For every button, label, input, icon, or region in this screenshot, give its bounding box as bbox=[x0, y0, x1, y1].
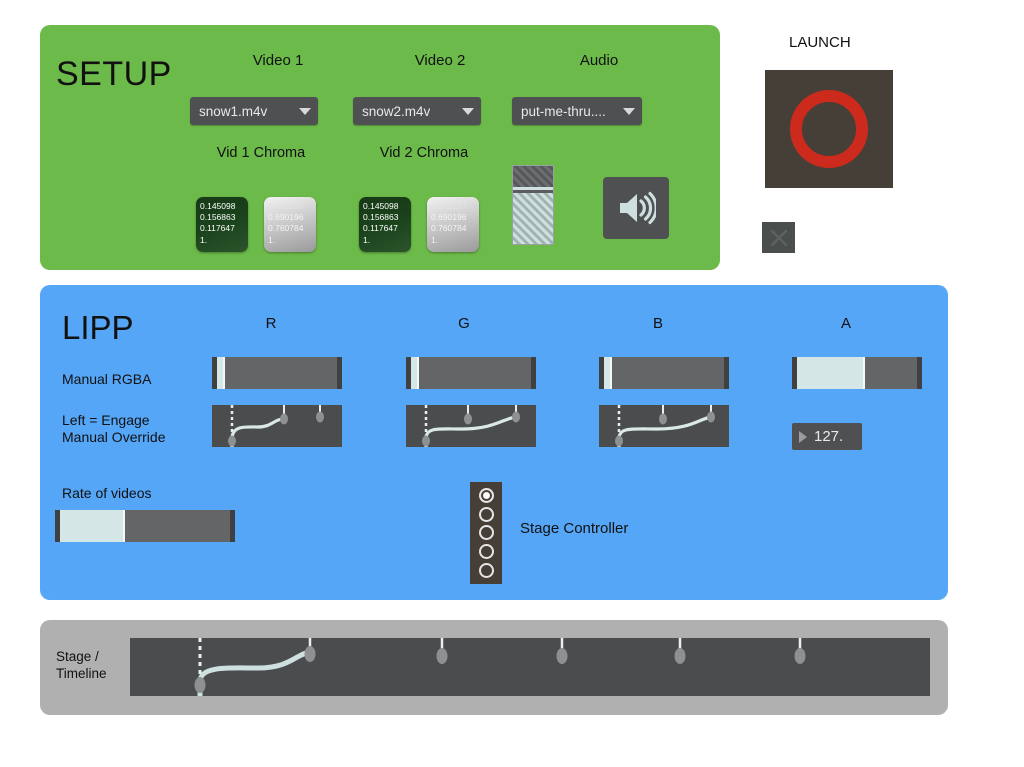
function-editor-b[interactable] bbox=[599, 405, 729, 447]
channel-header-a: A bbox=[811, 315, 881, 332]
timeline-panel: Stage / Timeline bbox=[40, 620, 948, 715]
channel-header-r: R bbox=[236, 315, 306, 332]
column-header-video2: Video 2 bbox=[365, 52, 515, 69]
swatch-value-b: 0.117647 bbox=[200, 223, 248, 234]
speaker-icon bbox=[616, 191, 656, 225]
swatch-value-b: 0.117647 bbox=[363, 223, 411, 234]
swatch-value-b: 0.760784 bbox=[268, 223, 316, 234]
vid1-chroma-tolerance-swatch[interactable]: 0.643137 0.690196 0.760784 1. bbox=[264, 197, 316, 252]
vid2-chroma-key-swatch[interactable]: 0.145098 0.156863 0.117647 1. bbox=[359, 197, 411, 252]
radio-option-2[interactable] bbox=[479, 507, 494, 522]
manual-override-label-line1: Left = Engage bbox=[62, 412, 166, 429]
alpha-number-box[interactable]: 127. bbox=[792, 423, 862, 450]
slider-fill bbox=[604, 357, 612, 389]
setup-panel-title: SETUP bbox=[56, 55, 172, 94]
slider-fill bbox=[797, 357, 865, 389]
video2-file-value: snow2.m4v bbox=[362, 104, 430, 119]
swatch-value-a: 1. bbox=[431, 235, 479, 246]
lipp-panel-title: LIPP bbox=[62, 309, 134, 347]
audio-file-dropdown[interactable]: put-me-thru.... bbox=[512, 97, 642, 125]
alpha-number-value: 127. bbox=[814, 428, 843, 445]
slider-fill bbox=[411, 357, 419, 389]
manual-slider-b[interactable] bbox=[599, 357, 729, 389]
vid1-chroma-key-swatch[interactable]: 0.145098 0.156863 0.117647 1. bbox=[196, 197, 248, 252]
slider-fill bbox=[60, 510, 125, 542]
swatch-value-b: 0.760784 bbox=[431, 223, 479, 234]
swatch-value-a: 1. bbox=[200, 235, 248, 246]
function-editor-r[interactable] bbox=[212, 405, 342, 447]
chevron-down-icon bbox=[299, 108, 311, 115]
swatch-value-r: 0.643137 bbox=[431, 201, 479, 212]
stage-timeline-label-line2: Timeline bbox=[56, 665, 107, 682]
chevron-down-icon bbox=[462, 108, 474, 115]
rate-of-videos-slider[interactable] bbox=[55, 510, 235, 542]
x-toggle-icon bbox=[769, 228, 789, 248]
video2-file-dropdown[interactable]: snow2.m4v bbox=[353, 97, 481, 125]
swatch-value-g: 0.690196 bbox=[268, 212, 316, 223]
manual-slider-g[interactable] bbox=[406, 357, 536, 389]
stage-timeline-label: Stage / Timeline bbox=[56, 648, 107, 682]
gain-slider-track-upper bbox=[513, 166, 553, 190]
rate-of-videos-label: Rate of videos bbox=[62, 485, 152, 502]
triangle-right-icon bbox=[799, 431, 807, 443]
gain-slider-track-lower bbox=[513, 193, 553, 244]
launch-bang-button[interactable] bbox=[765, 70, 893, 188]
swatch-value-a: 1. bbox=[363, 235, 411, 246]
swatch-value-r: 0.145098 bbox=[363, 201, 411, 212]
radio-option-1[interactable] bbox=[479, 488, 494, 503]
bang-ring-icon bbox=[790, 90, 868, 168]
radio-option-3[interactable] bbox=[479, 525, 494, 540]
channel-header-b: B bbox=[623, 315, 693, 332]
stage-controller-radio-group[interactable] bbox=[470, 482, 502, 584]
vid2-chroma-tolerance-swatch[interactable]: 0.643137 0.690196 0.760784 1. bbox=[427, 197, 479, 252]
radio-option-5[interactable] bbox=[479, 563, 494, 578]
vid1-chroma-label: Vid 1 Chroma bbox=[186, 145, 336, 161]
launch-title: LAUNCH bbox=[789, 34, 851, 51]
setup-panel: SETUP Video 1 Video 2 Audio snow1.m4v sn… bbox=[40, 25, 720, 270]
video1-file-dropdown[interactable]: snow1.m4v bbox=[190, 97, 318, 125]
swatch-value-a: 1. bbox=[268, 235, 316, 246]
chevron-down-icon bbox=[623, 108, 635, 115]
vid2-chroma-label: Vid 2 Chroma bbox=[349, 145, 499, 161]
manual-override-label-line2: Manual Override bbox=[62, 429, 166, 446]
column-header-video1: Video 1 bbox=[203, 52, 353, 69]
swatch-value-r: 0.145098 bbox=[200, 201, 248, 212]
launch-toggle-button[interactable] bbox=[762, 222, 795, 253]
radio-option-4[interactable] bbox=[479, 544, 494, 559]
swatch-value-g: 0.156863 bbox=[200, 212, 248, 223]
audio-file-value: put-me-thru.... bbox=[521, 104, 606, 119]
video1-file-value: snow1.m4v bbox=[199, 104, 267, 119]
column-header-audio: Audio bbox=[524, 52, 674, 69]
swatch-value-r: 0.643137 bbox=[268, 201, 316, 212]
audio-gain-slider[interactable] bbox=[512, 165, 554, 245]
manual-override-label: Left = Engage Manual Override bbox=[62, 412, 166, 446]
slider-fill bbox=[217, 357, 225, 389]
manual-slider-r[interactable] bbox=[212, 357, 342, 389]
function-editor-g[interactable] bbox=[406, 405, 536, 447]
stage-controller-label: Stage Controller bbox=[520, 520, 628, 537]
manual-rgba-label: Manual RGBA bbox=[62, 371, 151, 388]
swatch-value-g: 0.690196 bbox=[431, 212, 479, 223]
manual-slider-a[interactable] bbox=[792, 357, 922, 389]
timeline-function-editor[interactable] bbox=[130, 638, 930, 696]
channel-header-g: G bbox=[429, 315, 499, 332]
audio-mute-button[interactable] bbox=[603, 177, 669, 239]
swatch-value-g: 0.156863 bbox=[363, 212, 411, 223]
stage-timeline-label-line1: Stage / bbox=[56, 648, 107, 665]
